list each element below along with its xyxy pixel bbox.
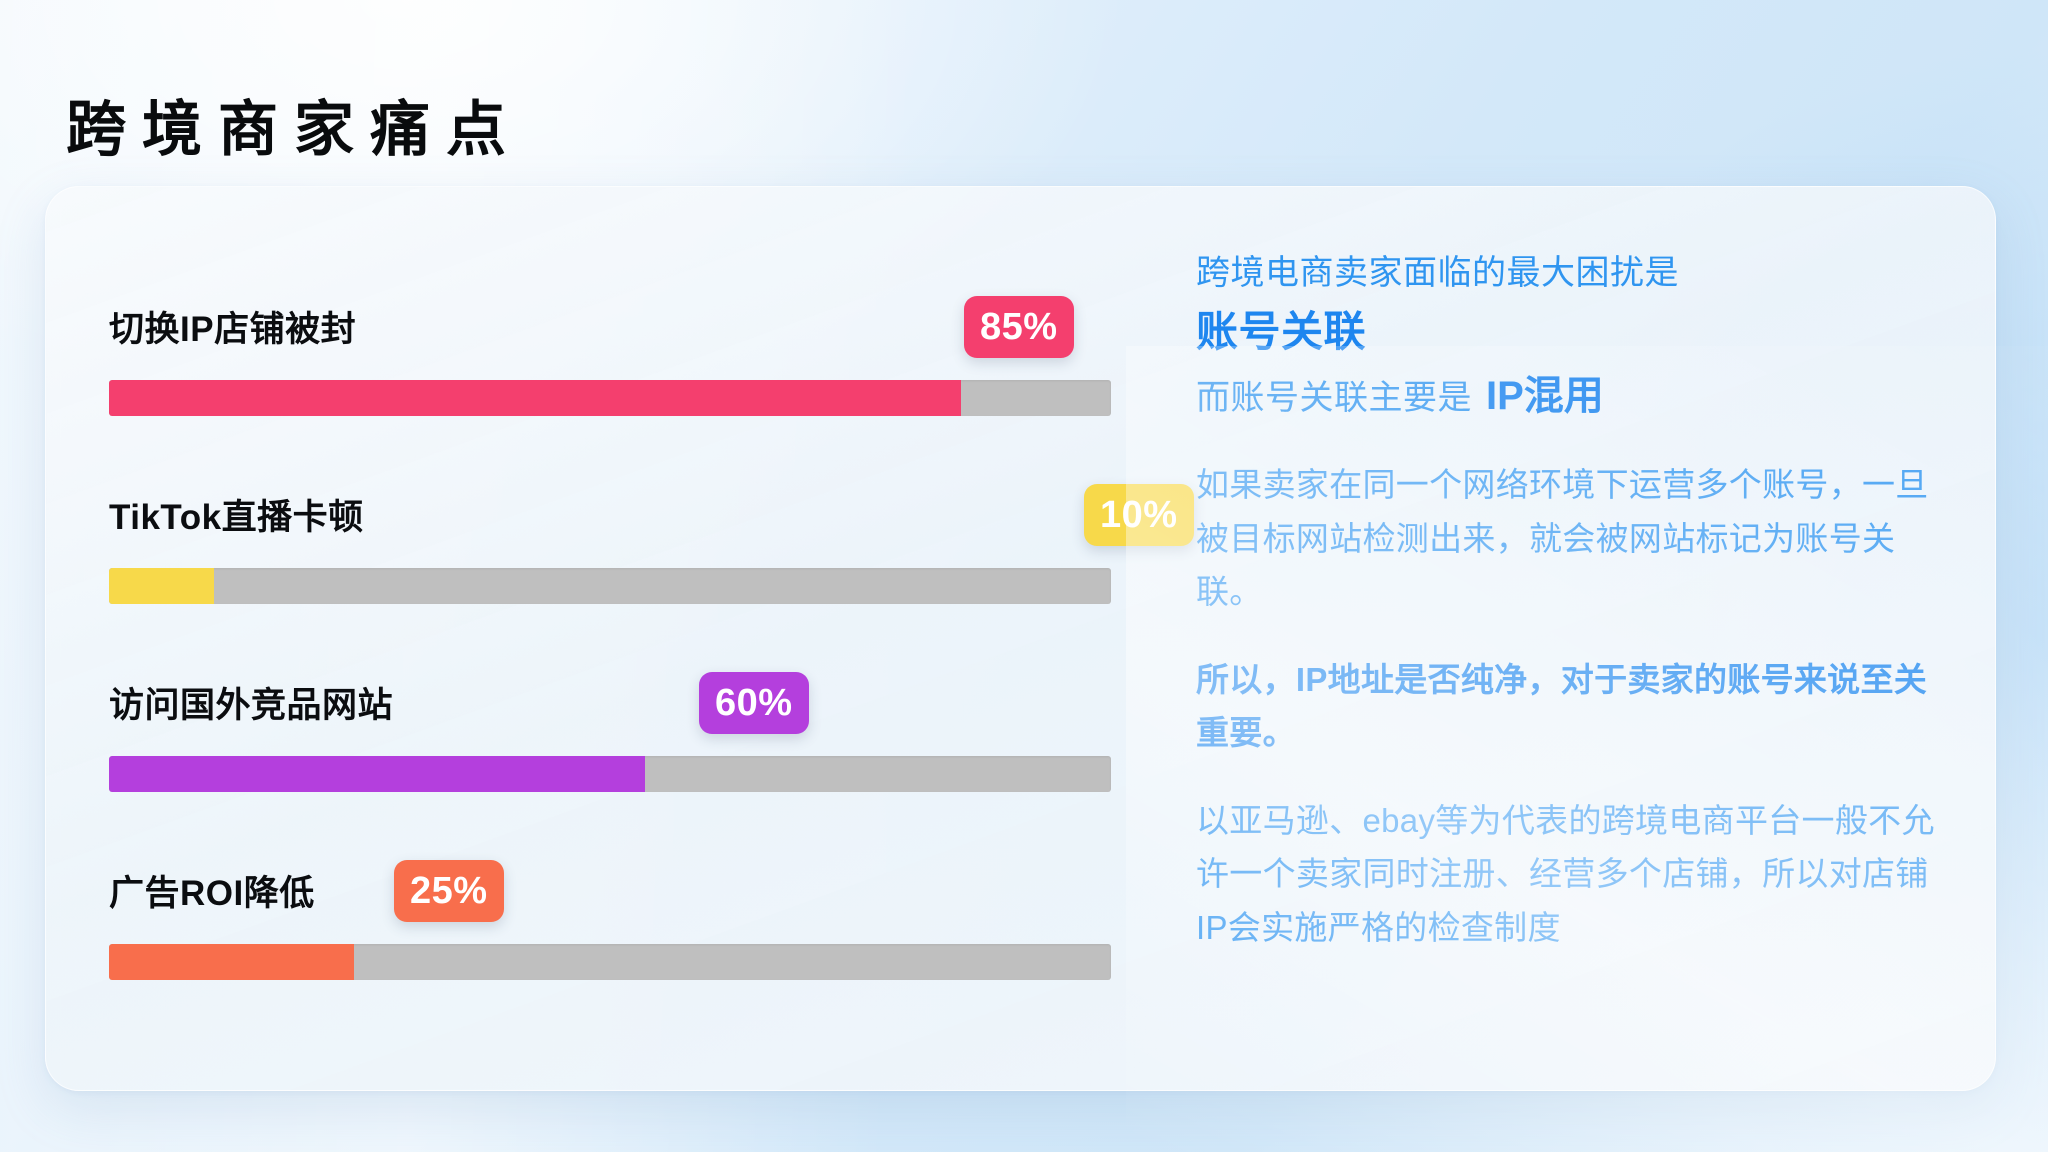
chart-row-header: TikTok直播卡顿 10%: [109, 450, 1174, 562]
chart-row-value-badge: 25%: [394, 860, 504, 922]
slide-page: 跨境商家痛点 切换IP店铺被封 85% TikTok直播卡顿 10%: [0, 0, 2048, 1152]
chart-row-label: 广告ROI降低: [109, 865, 315, 916]
chart-row-track: [109, 756, 1111, 792]
chart-row-fill: [109, 756, 645, 792]
chart-row: 切换IP店铺被封 85%: [109, 262, 1174, 450]
spacer: [1196, 424, 1956, 458]
chart-row-fill: [109, 568, 214, 604]
spacer: [1196, 760, 1956, 794]
paragraph-platform-policy: 以亚马逊、ebay等为代表的跨境电商平台一般不允许一个卖家同时注册、经营多个店铺…: [1196, 794, 1956, 954]
pain-point-bar-chart: 切换IP店铺被封 85% TikTok直播卡顿 10% 访问国外竞品网站: [109, 262, 1174, 1017]
chart-row-label: TikTok直播卡顿: [109, 489, 364, 540]
chart-row: 广告ROI降低 25%: [109, 826, 1174, 1014]
chart-row-value-badge: 85%: [964, 296, 1074, 358]
intro-line: 跨境电商卖家面临的最大困扰是: [1196, 247, 1956, 300]
chart-row-label: 切换IP店铺被封: [109, 301, 356, 352]
keyword-account-association: 账号关联: [1196, 300, 1956, 363]
keyword-ip-mixing: IP混用: [1486, 363, 1604, 421]
chart-row-value-badge: 60%: [699, 672, 809, 734]
chart-row: TikTok直播卡顿 10%: [109, 450, 1174, 638]
ip-mixing-prefix: 而账号关联主要是: [1196, 372, 1472, 425]
chart-row-track: [109, 380, 1111, 416]
chart-row-label: 访问国外竞品网站: [109, 677, 393, 728]
chart-row-value-badge: 10%: [1084, 484, 1194, 546]
chart-row-fill: [109, 380, 961, 416]
paragraph-multi-account-risk: 如果卖家在同一个网络环境下运营多个账号，一旦被目标网站检测出来，就会被网站标记为…: [1196, 458, 1956, 618]
chart-row-track: [109, 568, 1111, 604]
page-title: 跨境商家痛点: [66, 98, 522, 161]
spacer: [1196, 619, 1956, 653]
chart-row-fill: [109, 944, 354, 980]
content-card: 切换IP店铺被封 85% TikTok直播卡顿 10% 访问国外竞品网站: [45, 186, 1996, 1091]
paragraph-clean-ip-importance: 所以，IP地址是否纯净，对于卖家的账号来说至关重要。: [1196, 653, 1956, 760]
ip-mixing-line: 而账号关联主要是 IP混用: [1196, 363, 1956, 425]
chart-row-header: 广告ROI降低 25%: [109, 826, 1174, 938]
explanation-panel: 跨境电商卖家面临的最大困扰是 账号关联 而账号关联主要是 IP混用 如果卖家在同…: [1196, 247, 1956, 954]
chart-row-header: 切换IP店铺被封 85%: [109, 262, 1174, 374]
chart-row-header: 访问国外竞品网站 60%: [109, 638, 1174, 750]
chart-row-track: [109, 944, 1111, 980]
chart-row: 访问国外竞品网站 60%: [109, 638, 1174, 826]
